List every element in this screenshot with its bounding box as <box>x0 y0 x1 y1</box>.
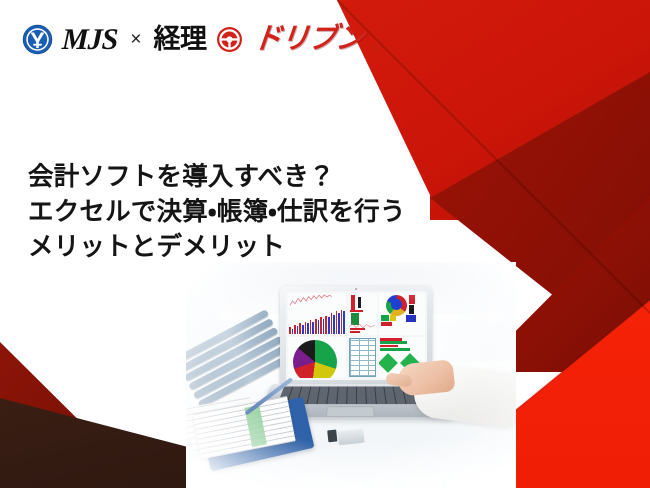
mjs-wordmark: MJS <box>61 25 117 55</box>
headline-line-3: メリットとデメリット <box>28 230 406 265</box>
brand-logo-row: MJS × 経理 ドリブン ® <box>22 24 380 55</box>
keiri-wordmark: 経理 <box>153 26 206 53</box>
article-thumbnail-banner: MJS × 経理 ドリブン ® 会計ソフトを導入すべき？ エクセルで決算・帳簿・… <box>0 0 650 488</box>
steering-wheel-icon <box>216 26 243 53</box>
photo-edge-fade <box>186 262 516 488</box>
mjs-circle-emblem-icon <box>22 24 53 55</box>
registered-trademark-icon: ® <box>373 43 380 53</box>
headline-line-2: エクセルで決算・帳簿・仕訳を行う <box>28 195 406 230</box>
driven-wordmark: ドリブン <box>252 25 365 54</box>
headline-line-1: 会計ソフトを導入すべき？ <box>28 160 406 195</box>
logo-separator-x: × <box>130 30 141 49</box>
hero-photo <box>186 262 516 488</box>
page-title: 会計ソフトを導入すべき？ エクセルで決算・帳簿・仕訳を行う メリットとデメリット <box>28 160 406 266</box>
